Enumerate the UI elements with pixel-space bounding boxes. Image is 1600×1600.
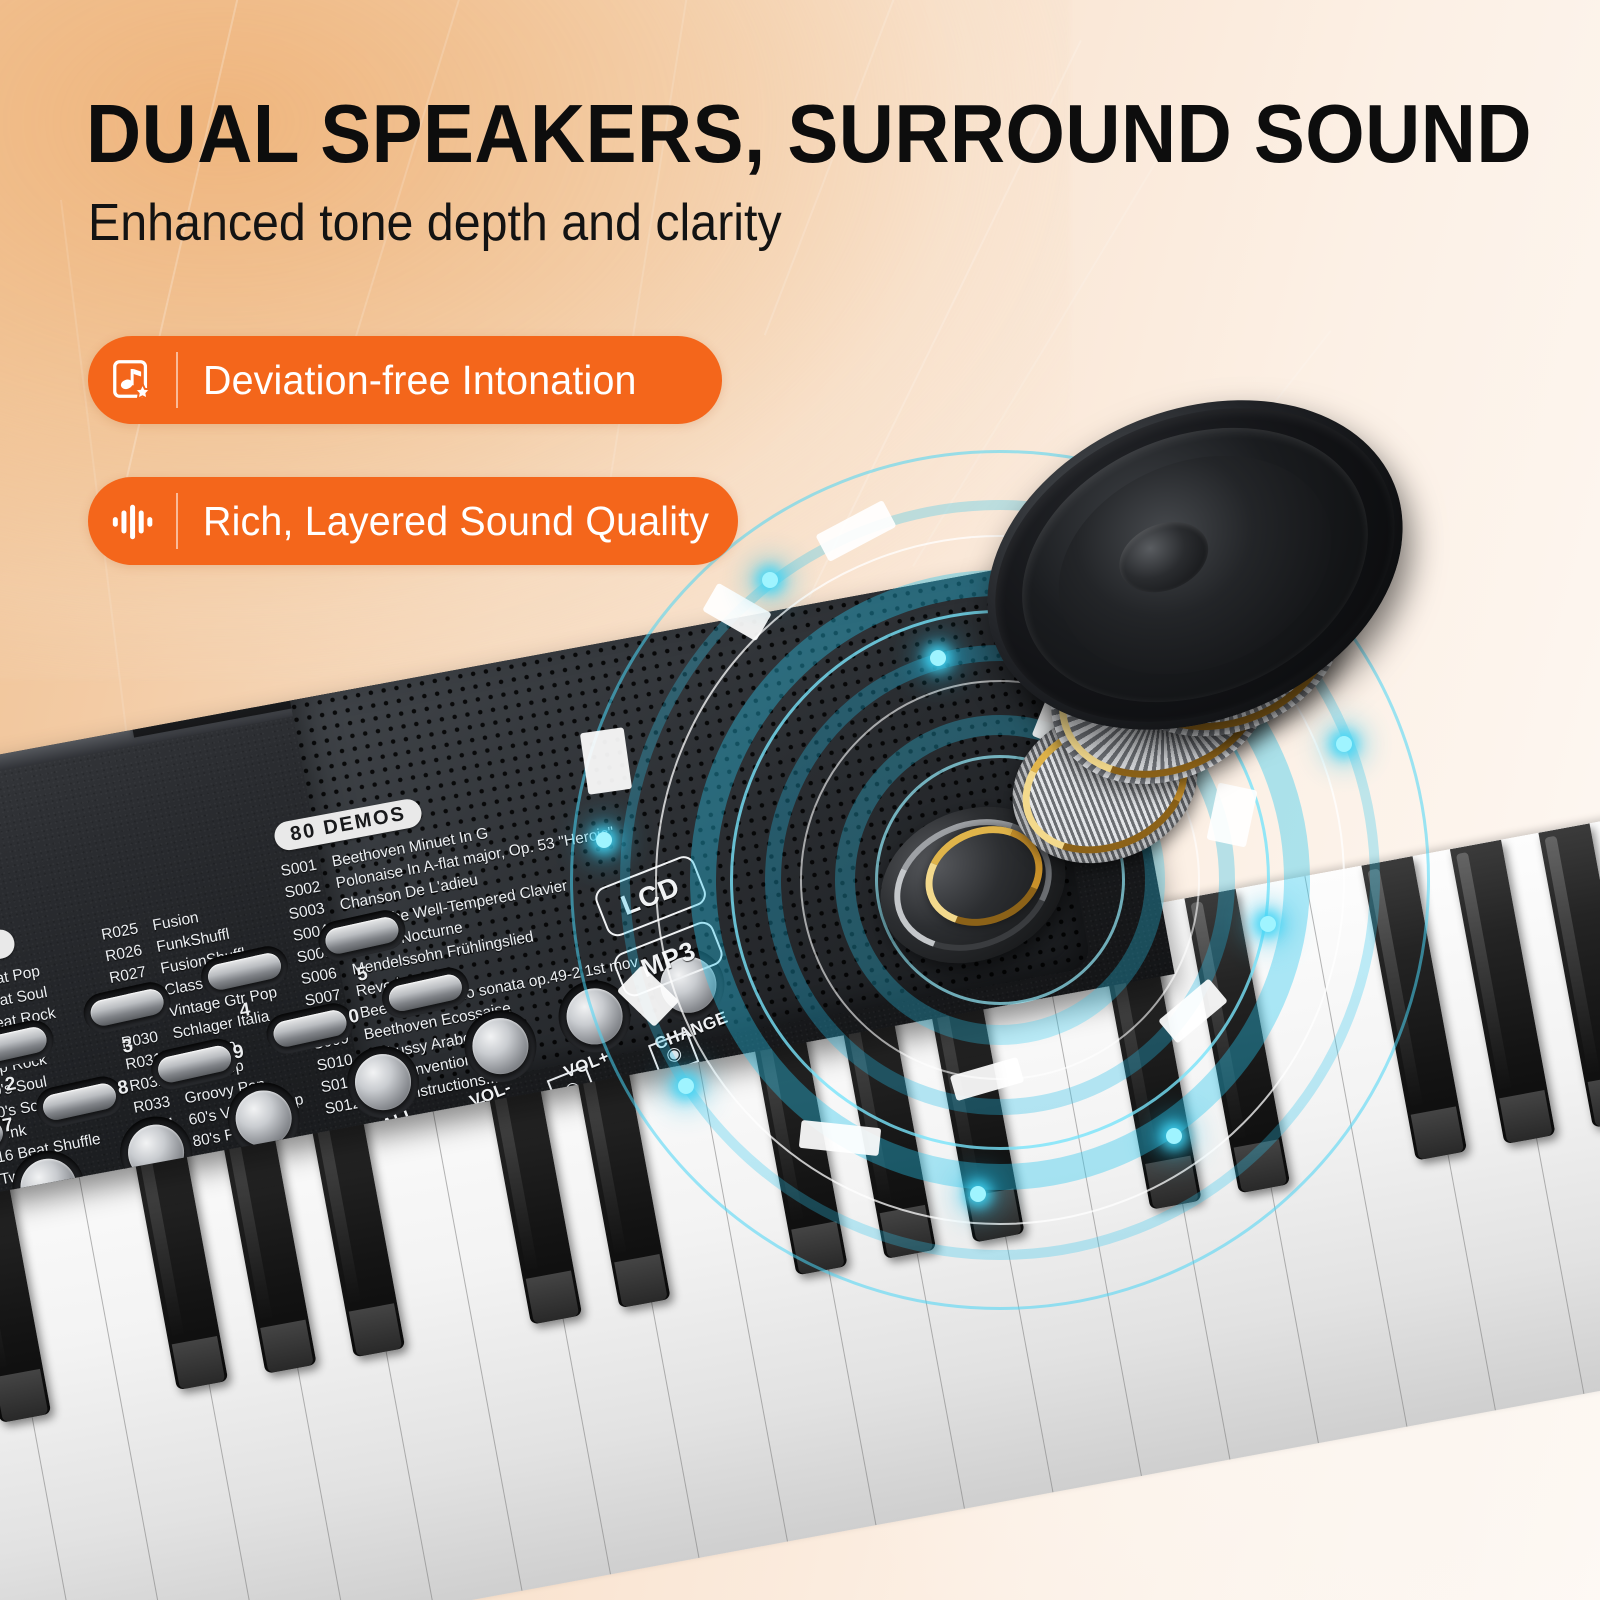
speaker-driver-exploded-view (860, 410, 1480, 1030)
feature-pill-sound-quality-label: Rich, Layered Sound Quality (178, 498, 709, 545)
hud-glow-dot (762, 572, 778, 588)
feature-pill-intonation[interactable]: Deviation-free Intonation (88, 336, 722, 424)
product-banner: RHYTHMS R0138 Beat PopR0148 Beat SoulR01… (0, 0, 1600, 1600)
hud-glow-dot (596, 832, 612, 848)
page-subtitle: Enhanced tone depth and clarity (88, 196, 782, 251)
page-title: DUAL SPEAKERS, SURROUND SOUND (86, 92, 1374, 175)
music-note-star-icon (88, 336, 176, 424)
hud-glow-dot (678, 1078, 694, 1094)
hud-glow-dot (1166, 1128, 1182, 1144)
black-key[interactable] (1538, 823, 1600, 1127)
feature-pill-intonation-label: Deviation-free Intonation (178, 357, 637, 404)
sound-wave-icon (88, 477, 176, 565)
hud-glow-dot (970, 1186, 986, 1202)
feature-pill-sound-quality[interactable]: Rich, Layered Sound Quality (88, 477, 738, 565)
